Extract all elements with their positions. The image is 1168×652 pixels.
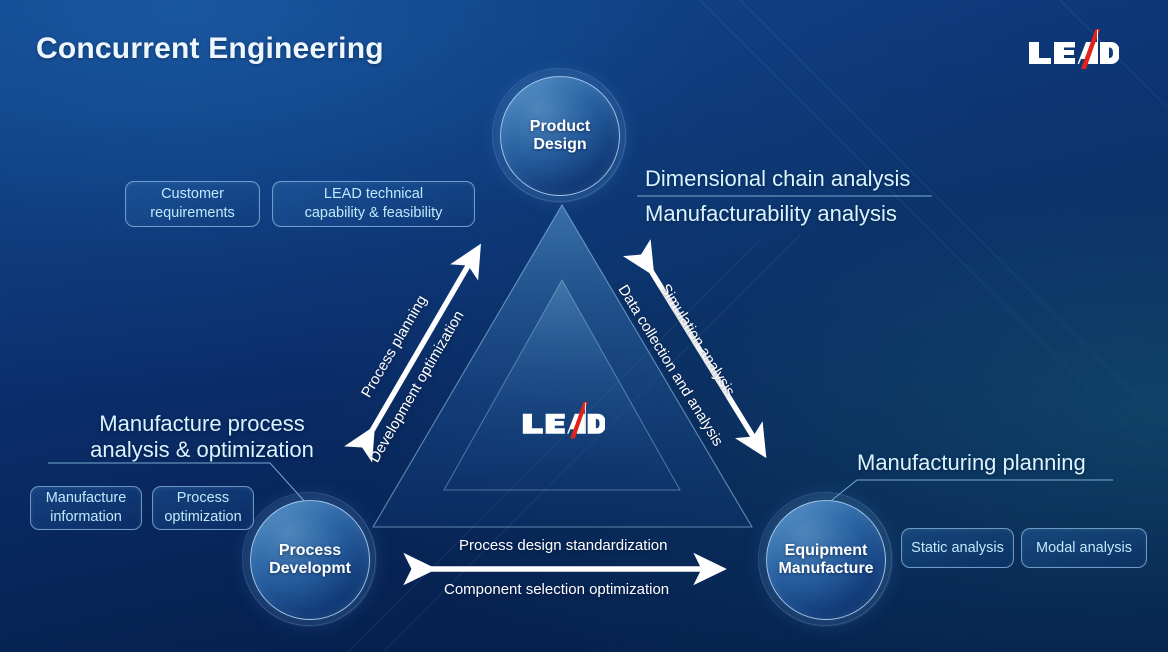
pill-lead-technical-capability-label: LEAD technical capability & feasibility <box>305 185 443 222</box>
node-process-development-line2: Developmt <box>269 560 351 577</box>
pill-process-optimization-label: Process optimization <box>164 489 241 526</box>
node-product-design-line2: Design <box>533 136 586 153</box>
pill-modal-analysis[interactable]: Modal analysis <box>1021 528 1147 568</box>
node-equipment-manufacture[interactable]: Equipment Manufacture <box>766 500 886 620</box>
heading-dimensional-chain-analysis: Dimensional chain analysis <box>645 166 910 193</box>
pill-customer-requirements[interactable]: Customer requirements <box>125 181 260 227</box>
node-process-development[interactable]: Process Developmt <box>250 500 370 620</box>
node-product-design[interactable]: Product Design <box>500 76 620 196</box>
center-lead-logo <box>521 400 605 442</box>
pill-static-analysis[interactable]: Static analysis <box>901 528 1014 568</box>
node-equipment-manufacture-line1: Equipment <box>785 542 868 559</box>
pill-manufacture-information-label: Manufacture information <box>46 489 127 526</box>
page-title: Concurrent Engineering <box>36 32 384 66</box>
node-equipment-manufacture-line2: Manufacture <box>778 560 873 577</box>
arrow-label-development-optimization: Development optimization <box>366 308 468 466</box>
node-product-design-line1: Product <box>530 118 590 135</box>
pill-process-optimization[interactable]: Process optimization <box>152 486 254 530</box>
pill-lead-technical-capability[interactable]: LEAD technical capability & feasibility <box>272 181 475 227</box>
node-process-development-line1: Process <box>279 542 341 559</box>
arrow-label-simulation-analysis: Simulation analysis <box>657 281 739 399</box>
heading-manufacturing-planning: Manufacturing planning <box>857 450 1086 477</box>
slide-canvas: Concurrent Engineering <box>0 0 1168 652</box>
heading-manufacture-process-line1: Manufacture process <box>52 411 352 438</box>
pill-customer-requirements-label: Customer requirements <box>150 185 235 222</box>
pill-manufacture-information[interactable]: Manufacture information <box>30 486 142 530</box>
arrow-label-component-selection-optimization: Component selection optimization <box>444 581 669 598</box>
pill-modal-analysis-label: Modal analysis <box>1036 539 1132 558</box>
lead-logo <box>1027 27 1119 73</box>
leader-right <box>822 480 1113 508</box>
heading-manufacturability-analysis: Manufacturability analysis <box>645 201 897 228</box>
pill-static-analysis-label: Static analysis <box>911 539 1004 558</box>
arrow-label-process-design-standardization: Process design standardization <box>459 537 667 554</box>
heading-manufacture-process-line2: analysis & optimization <box>52 437 352 464</box>
